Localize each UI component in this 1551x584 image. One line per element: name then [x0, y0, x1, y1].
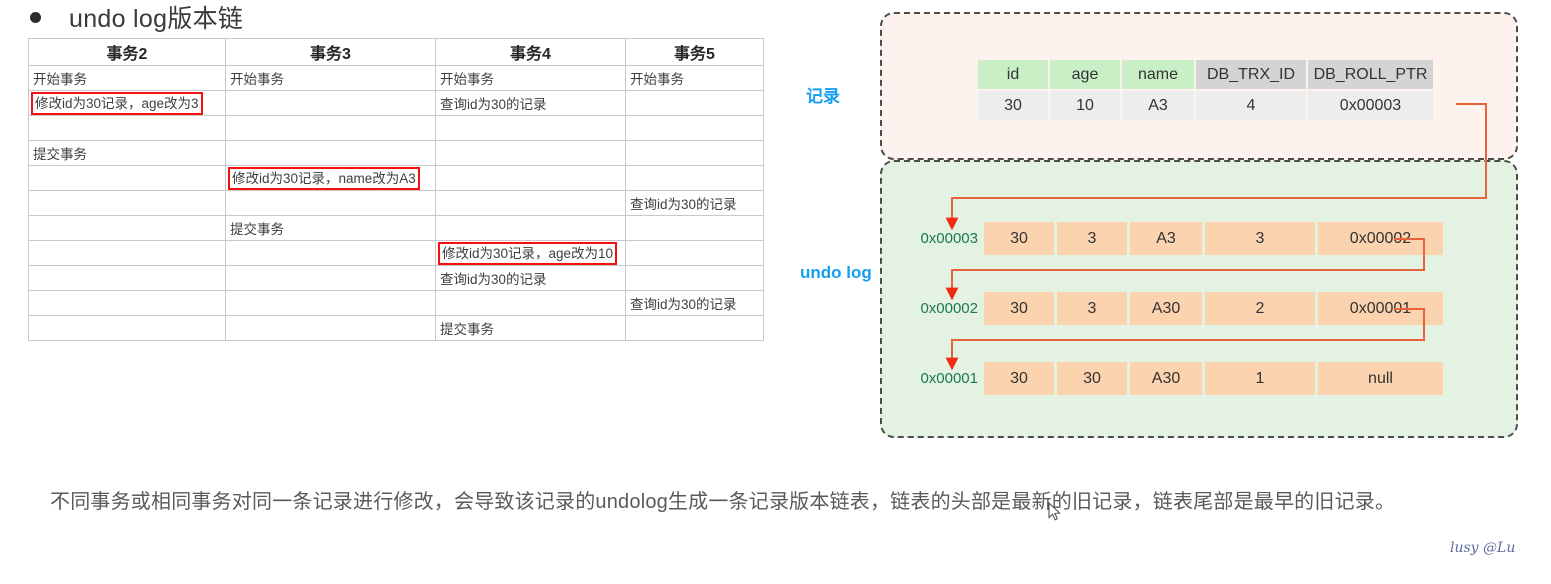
record-table: id age name DB_TRX_ID DB_ROLL_PTR 30 10 … — [978, 60, 1433, 120]
record-cell-name: A3 — [1122, 91, 1194, 120]
table-cell — [436, 141, 626, 166]
table-row — [29, 116, 764, 141]
page-heading: undo log版本链 — [30, 0, 243, 34]
cell-text: 提交事务 — [230, 222, 284, 237]
body-paragraph: 不同事务或相同事务对同一条记录进行修改，会导致该记录的undolog生成一条记录… — [50, 478, 1500, 526]
table-cell: 开始事务 — [226, 66, 436, 91]
undo-cell-name: A30 — [1130, 362, 1202, 395]
undo-cell-age: 30 — [1057, 362, 1127, 395]
column-header-tx2: 事务2 — [29, 39, 226, 66]
cell-text: 提交事务 — [440, 322, 494, 337]
table-cell — [626, 116, 764, 141]
record-cell-db-roll-ptr: 0x00003 — [1308, 91, 1433, 120]
table-row: 查询id为30的记录 — [29, 266, 764, 291]
table-header-row: 事务2 事务3 事务4 事务5 — [29, 39, 764, 66]
undo-entry-address: 0x00002 — [914, 300, 978, 317]
table-row: 开始事务开始事务开始事务开始事务 — [29, 66, 764, 91]
undo-cell-name: A3 — [1130, 222, 1202, 255]
highlighted-cell-text: 修改id为30记录，age改为3 — [31, 92, 203, 115]
record-cell-db-trx-id: 4 — [1196, 91, 1306, 120]
table-cell — [626, 166, 764, 191]
table-cell — [436, 116, 626, 141]
column-header-tx4: 事务4 — [436, 39, 626, 66]
bullet-dot-icon — [30, 12, 41, 23]
table-cell: 查询id为30的记录 — [436, 91, 626, 116]
table-cell — [226, 316, 436, 341]
record-cell-age: 10 — [1050, 91, 1120, 120]
table-cell — [626, 141, 764, 166]
undo-cell-age: 3 — [1057, 292, 1127, 325]
undo-cell-name: A30 — [1130, 292, 1202, 325]
cell-text: 查询id为30的记录 — [440, 272, 547, 287]
undo-cell-id: 30 — [984, 222, 1054, 255]
undo-cell-db-roll-ptr: 0x00002 — [1318, 222, 1443, 255]
table-cell — [436, 216, 626, 241]
undo-entry-address: 0x00003 — [914, 230, 978, 247]
undo-cell-db-trx-id: 2 — [1205, 292, 1315, 325]
cell-text: 开始事务 — [630, 72, 684, 87]
undo-cell-db-roll-ptr: 0x00001 — [1318, 292, 1443, 325]
record-data-row: 30 10 A3 4 0x00003 — [978, 91, 1433, 120]
table-cell — [626, 266, 764, 291]
table-cell — [436, 291, 626, 316]
undo-cell-age: 3 — [1057, 222, 1127, 255]
table-cell — [226, 241, 436, 266]
table-cell: 提交事务 — [29, 141, 226, 166]
highlighted-cell-text: 修改id为30记录，age改为10 — [438, 242, 617, 265]
cell-text: 查询id为30的记录 — [630, 297, 737, 312]
cell-text: 查询id为30的记录 — [440, 97, 547, 112]
table-row: 提交事务 — [29, 316, 764, 341]
table-cell — [226, 266, 436, 291]
undo-cell-db-roll-ptr: null — [1318, 362, 1443, 395]
page-title: undo log版本链 — [69, 0, 243, 35]
table-row: 查询id为30的记录 — [29, 191, 764, 216]
table-cell: 提交事务 — [436, 316, 626, 341]
table-cell: 修改id为30记录，age改为3 — [29, 91, 226, 116]
cell-text: 查询id为30的记录 — [630, 197, 737, 212]
undo-cell-id: 30 — [984, 362, 1054, 395]
record-header-row: id age name DB_TRX_ID DB_ROLL_PTR — [978, 60, 1433, 89]
undo-log-entry: 0x00003 30 3 A3 3 0x00002 — [914, 222, 1443, 255]
transaction-schedule-table: 事务2 事务3 事务4 事务5 开始事务开始事务开始事务开始事务修改id为30记… — [28, 38, 764, 341]
table-cell — [436, 191, 626, 216]
table-row: 提交事务 — [29, 216, 764, 241]
table-cell: 查询id为30的记录 — [436, 266, 626, 291]
table-row: 查询id为30的记录 — [29, 291, 764, 316]
undo-cell-id: 30 — [984, 292, 1054, 325]
cell-text: 提交事务 — [33, 147, 87, 162]
table-cell — [626, 91, 764, 116]
table-cell — [29, 266, 226, 291]
record-header-db-roll-ptr: DB_ROLL_PTR — [1308, 60, 1433, 89]
table-row: 修改id为30记录，name改为A3 — [29, 166, 764, 191]
record-header-age: age — [1050, 60, 1120, 89]
record-cell-id: 30 — [978, 91, 1048, 120]
table-cell — [29, 191, 226, 216]
table-cell — [626, 241, 764, 266]
table-cell — [226, 141, 436, 166]
table-cell — [29, 216, 226, 241]
table-cell — [29, 116, 226, 141]
table-cell: 修改id为30记录，age改为10 — [436, 241, 626, 266]
record-header-id: id — [978, 60, 1048, 89]
mouse-cursor-icon — [1048, 502, 1062, 522]
highlighted-cell-text: 修改id为30记录，name改为A3 — [228, 167, 420, 190]
table-row: 修改id为30记录，age改为3查询id为30的记录 — [29, 91, 764, 116]
undo-entry-address: 0x00001 — [914, 370, 978, 387]
table-cell: 开始事务 — [626, 66, 764, 91]
table-cell — [436, 166, 626, 191]
table-cell — [29, 241, 226, 266]
table-row: 修改id为30记录，age改为10 — [29, 241, 764, 266]
table-cell — [626, 316, 764, 341]
table-cell — [29, 166, 226, 191]
undo-log-version-chain-diagram: 记录 undo log id age name DB_TRX_ID DB_ROL… — [866, 8, 1526, 436]
table-cell — [29, 316, 226, 341]
table-cell: 修改id为30记录，name改为A3 — [226, 166, 436, 191]
column-header-tx5: 事务5 — [626, 39, 764, 66]
table-cell: 开始事务 — [436, 66, 626, 91]
table-cell — [226, 291, 436, 316]
column-header-tx3: 事务3 — [226, 39, 436, 66]
record-header-db-trx-id: DB_TRX_ID — [1196, 60, 1306, 89]
table-cell: 查询id为30的记录 — [626, 191, 764, 216]
table-cell: 开始事务 — [29, 66, 226, 91]
cell-text: 开始事务 — [230, 72, 284, 87]
undo-log-region-label: undo log — [800, 263, 872, 283]
cell-text: 开始事务 — [440, 72, 494, 87]
table-cell: 提交事务 — [226, 216, 436, 241]
table-cell — [226, 116, 436, 141]
watermark: lusy @Lu — [1450, 540, 1515, 556]
cell-text: 开始事务 — [33, 72, 87, 87]
undo-log-entry: 0x00001 30 30 A30 1 null — [914, 362, 1443, 395]
table-body: 开始事务开始事务开始事务开始事务修改id为30记录，age改为3查询id为30的… — [29, 66, 764, 341]
table-cell — [626, 216, 764, 241]
undo-cell-db-trx-id: 1 — [1205, 362, 1315, 395]
table-row: 提交事务 — [29, 141, 764, 166]
table-cell — [226, 191, 436, 216]
table-cell: 查询id为30的记录 — [626, 291, 764, 316]
record-header-name: name — [1122, 60, 1194, 89]
table-cell — [226, 91, 436, 116]
undo-log-entry: 0x00002 30 3 A30 2 0x00001 — [914, 292, 1443, 325]
record-region-label: 记录 — [806, 82, 840, 107]
table-cell — [29, 291, 226, 316]
undo-cell-db-trx-id: 3 — [1205, 222, 1315, 255]
